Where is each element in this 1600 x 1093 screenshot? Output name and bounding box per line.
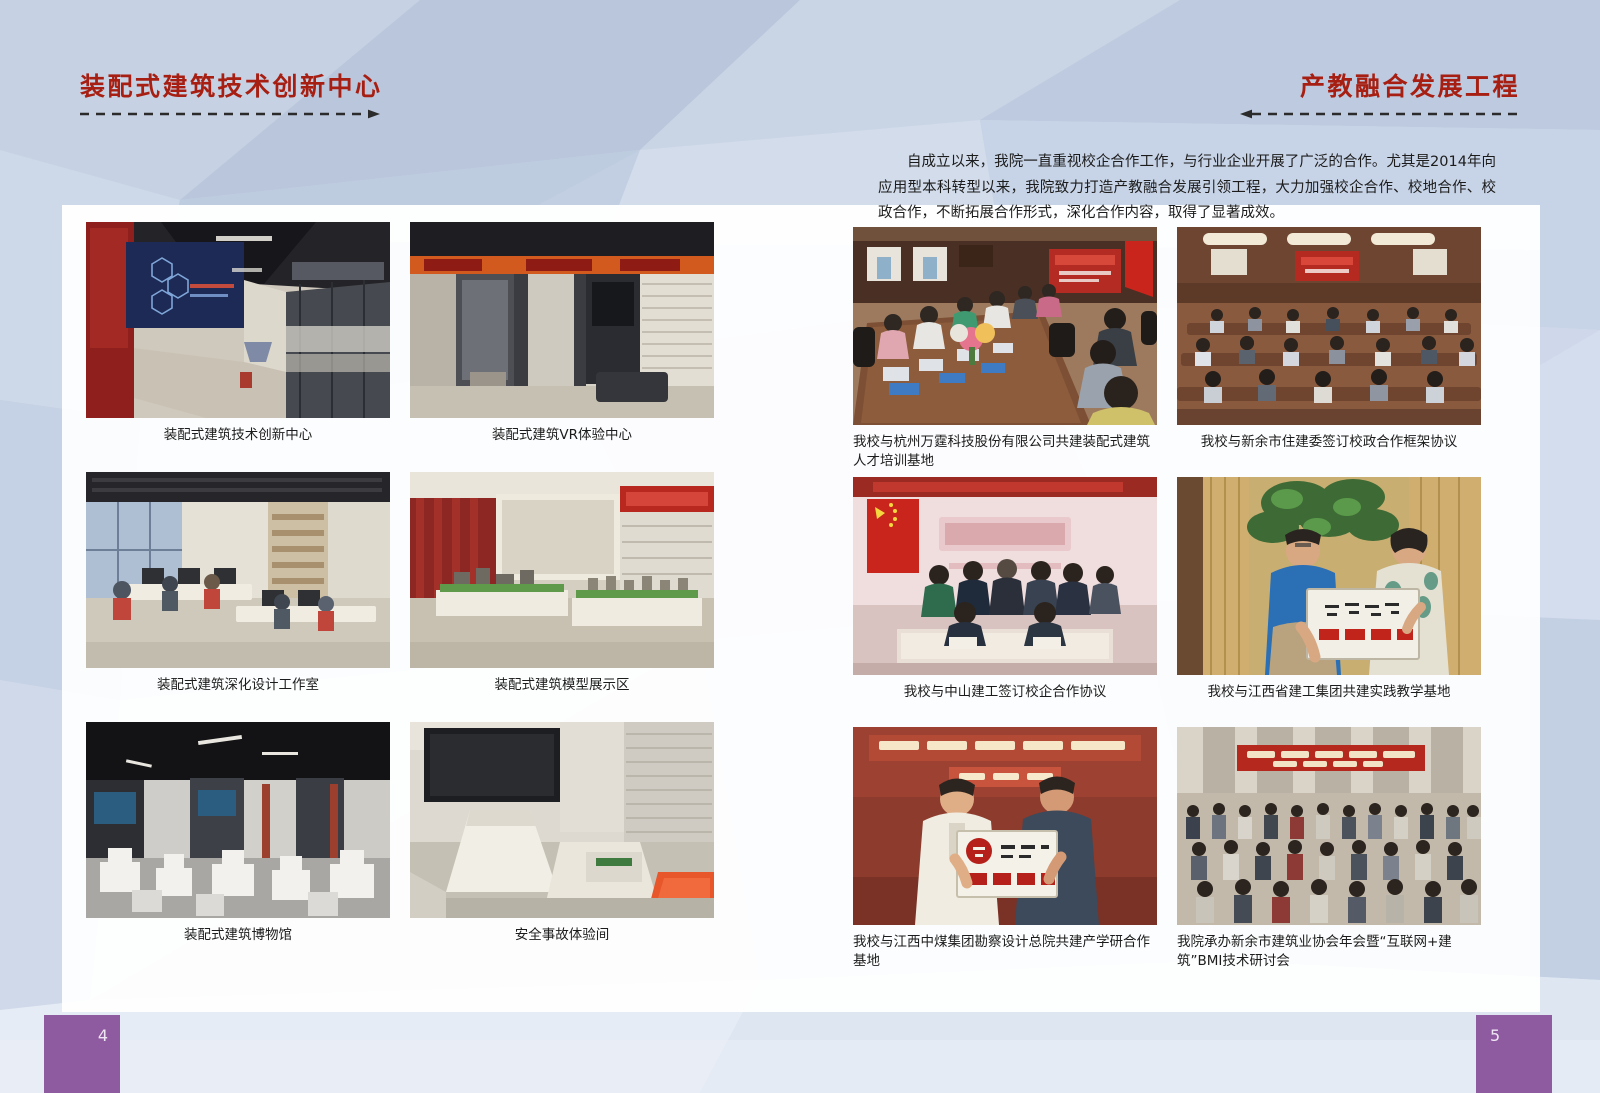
- photo-caption: 装配式建筑技术创新中心: [86, 418, 390, 445]
- photo-auditorium-seminar[interactable]: [1177, 227, 1481, 425]
- page-number-value: 5: [1490, 1026, 1500, 1045]
- photo-cell: 安全事故体验间: [410, 722, 714, 972]
- photo-annual-conference-group[interactable]: [1177, 727, 1481, 925]
- photo-plaque-research-cooperation-base[interactable]: [853, 727, 1157, 925]
- right-photo-grid: 我校与杭州万霆科技股份有限公司共建装配式建筑人才培训基地: [853, 227, 1481, 977]
- photo-caption: 装配式建筑模型展示区: [410, 668, 714, 695]
- photo-caption: 我校与新余市住建委签订校政合作框架协议: [1177, 425, 1481, 452]
- page-title: 装配式建筑技术创新中心: [80, 72, 500, 102]
- photo-caption: 我校与杭州万霆科技股份有限公司共建装配式建筑人才培训基地: [853, 425, 1157, 471]
- photo-museum-hall[interactable]: [86, 722, 390, 918]
- photo-cell: 我院承办新余市建筑业协会年会暨“互联网+建筑”BMI技术研讨会: [1177, 727, 1481, 977]
- intro-paragraph: 自成立以来，我院一直重视校企合作工作，与行业企业开展了广泛的合作。尤其是2014…: [878, 150, 1496, 227]
- right-page-header: 产教融合发展工程: [1220, 72, 1520, 130]
- left-photo-grid: 装配式建筑技术创新中心: [86, 222, 714, 972]
- page-number-left: 4: [44, 1015, 120, 1093]
- photo-corridor-innovation-center[interactable]: [86, 222, 390, 418]
- photo-safety-experience-room[interactable]: [410, 722, 714, 918]
- photo-cell: 我校与新余市住建委签订校政合作框架协议: [1177, 227, 1481, 477]
- photo-caption: 装配式建筑深化设计工作室: [86, 668, 390, 695]
- photo-design-studio[interactable]: [86, 472, 390, 668]
- photo-cell: 我校与杭州万霆科技股份有限公司共建装配式建筑人才培训基地: [853, 227, 1157, 477]
- photo-cell: 装配式建筑技术创新中心: [86, 222, 390, 472]
- photo-cell: 装配式建筑VR体验中心: [410, 222, 714, 472]
- photo-caption: 装配式建筑VR体验中心: [410, 418, 714, 445]
- photo-caption: 我校与中山建工签订校企合作协议: [853, 675, 1157, 702]
- left-page: 装配式建筑技术创新中心: [0, 0, 800, 1093]
- header-dashed-rule-left-arrow: [1240, 109, 1520, 119]
- photo-caption: 我校与江西省建工集团共建实践教学基地: [1177, 675, 1481, 702]
- photo-conference-meeting[interactable]: [853, 227, 1157, 425]
- page-number-right: 5: [1476, 1015, 1552, 1093]
- photo-caption: 我校与江西中煤集团勘察设计总院共建产学研合作基地: [853, 925, 1157, 971]
- header-dashed-rule-right-arrow: [80, 109, 500, 119]
- photo-caption: 安全事故体验间: [410, 918, 714, 945]
- photo-model-exhibition-area[interactable]: [410, 472, 714, 668]
- photo-caption: 我院承办新余市建筑业协会年会暨“互联网+建筑”BMI技术研讨会: [1177, 925, 1481, 971]
- photo-cell: 装配式建筑博物馆: [86, 722, 390, 972]
- photo-vr-experience-center[interactable]: [410, 222, 714, 418]
- brochure-spread: 装配式建筑技术创新中心: [0, 0, 1600, 1093]
- photo-cell: 装配式建筑模型展示区: [410, 472, 714, 722]
- photo-cell: 我校与江西中煤集团勘察设计总院共建产学研合作基地: [853, 727, 1157, 977]
- photo-signing-ceremony[interactable]: [853, 477, 1157, 675]
- photo-cell: 我校与中山建工签订校企合作协议: [853, 477, 1157, 727]
- page-title: 产教融合发展工程: [1220, 72, 1520, 102]
- left-page-header: 装配式建筑技术创新中心: [80, 72, 500, 130]
- photo-plaque-practice-teaching-base[interactable]: [1177, 477, 1481, 675]
- photo-cell: 我校与江西省建工集团共建实践教学基地: [1177, 477, 1481, 727]
- photo-cell: 装配式建筑深化设计工作室: [86, 472, 390, 722]
- photo-caption: 装配式建筑博物馆: [86, 918, 390, 945]
- page-number-value: 4: [98, 1026, 108, 1045]
